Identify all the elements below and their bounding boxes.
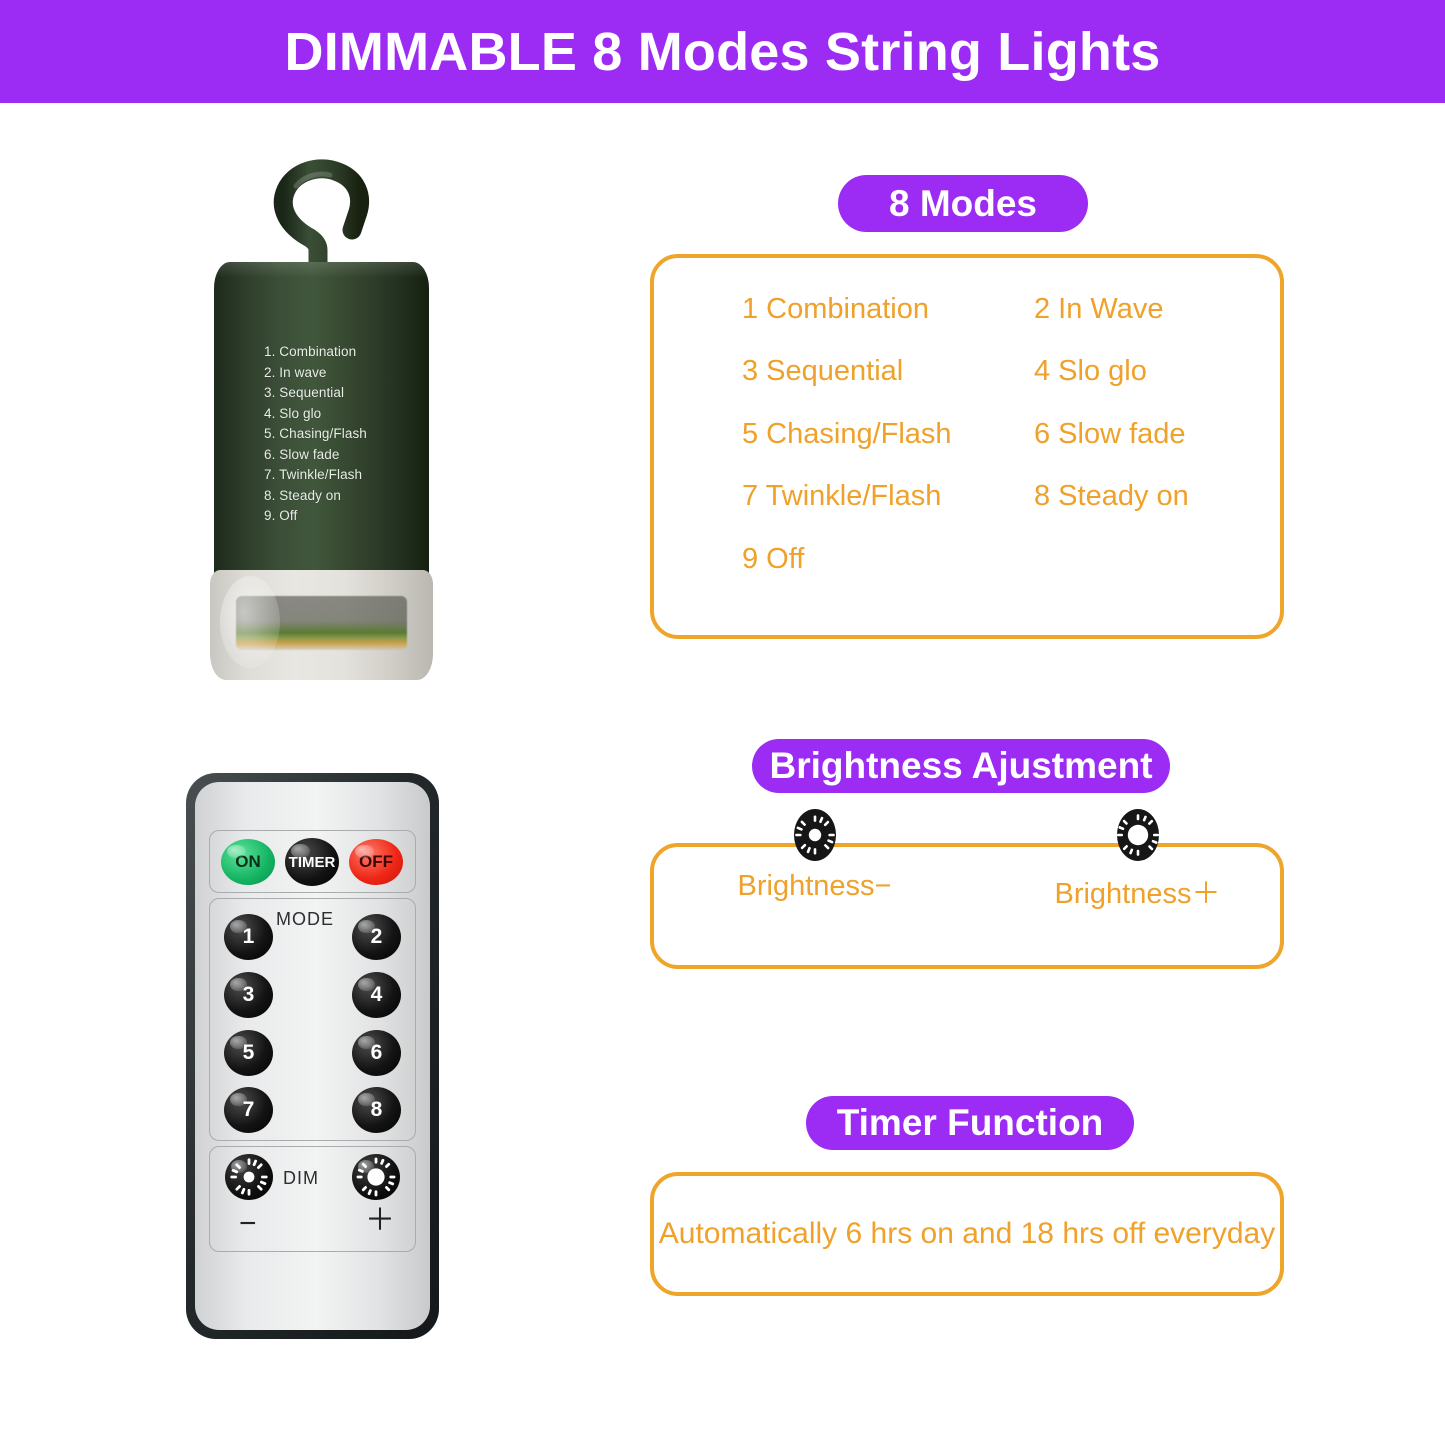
- remote-timer-button[interactable]: TIMER: [285, 838, 339, 886]
- remote-mode-button-label: 2: [371, 925, 383, 949]
- mode-item-6: 6 Slow fade: [1034, 419, 1262, 449]
- section-badge-timer-label: Timer Function: [837, 1102, 1104, 1144]
- modes-list: 1 Combination 2 In Wave 3 Sequential 4 S…: [742, 294, 1262, 574]
- mode-item-4: 4 Slo glo: [1034, 356, 1262, 386]
- remote-mode-button-3[interactable]: 3: [224, 972, 273, 1018]
- remote-mode-button-label: 5: [243, 1041, 255, 1065]
- modes-panel: 1 Combination 2 In Wave 3 Sequential 4 S…: [650, 254, 1284, 639]
- lantern-translucent-base: [210, 570, 433, 680]
- remote-dim-up-button[interactable]: [352, 1154, 400, 1200]
- remote-mode-button-8[interactable]: 8: [352, 1087, 401, 1133]
- section-badge-modes: 8 Modes: [838, 175, 1088, 232]
- sun-dim-icon: [228, 1156, 270, 1198]
- lantern-label-line: 9. Off: [264, 506, 367, 527]
- remote-mode-button-label: 3: [243, 983, 255, 1007]
- remote-mode-button-label: 6: [371, 1041, 383, 1065]
- lantern-label-line: 1. Combination: [264, 342, 367, 363]
- remote-timer-label: TIMER: [289, 854, 336, 871]
- brightness-panel: Brightness−: [650, 843, 1284, 969]
- lantern-product-image: 1. Combination 2. In wave 3. Sequential …: [186, 150, 486, 690]
- remote-dim-plus-sign: ＋: [365, 1206, 395, 1236]
- remote-mode-button-label: 4: [371, 983, 383, 1007]
- remote-on-label: ON: [235, 852, 261, 872]
- remote-off-button[interactable]: OFF: [349, 839, 403, 885]
- mode-item-8: 8 Steady on: [1034, 481, 1262, 511]
- timer-panel: Automatically 6 hrs on and 18 hrs off ev…: [650, 1172, 1284, 1296]
- remote-on-button[interactable]: ON: [221, 839, 275, 885]
- brightness-controls: Brightness−: [654, 804, 1280, 964]
- remote-mode-button-label: 8: [371, 1098, 383, 1122]
- section-badge-brightness: Brightness Ajustment: [752, 739, 1170, 793]
- remote-off-label: OFF: [359, 852, 393, 872]
- lantern-body: 1. Combination 2. In wave 3. Sequential …: [214, 262, 429, 578]
- remote-product-image: ON TIMER OFF MODE 1 2 3 4: [186, 773, 439, 1339]
- brightness-down-control: Brightness−: [654, 804, 957, 964]
- remote-faceplate: ON TIMER OFF MODE 1 2 3 4: [195, 782, 430, 1330]
- remote-dim-label: DIM: [283, 1168, 319, 1189]
- mode-item-9: 9 Off: [742, 544, 1034, 574]
- lantern-label-line: 2. In wave: [264, 363, 367, 384]
- sun-dim-icon: [789, 804, 841, 866]
- sun-bright-icon: [1112, 804, 1164, 866]
- mode-item-2: 2 In Wave: [1034, 294, 1262, 324]
- remote-mode-button-7[interactable]: 7: [224, 1087, 273, 1133]
- brightness-down-label: Brightness−: [738, 870, 892, 903]
- section-badge-modes-label: 8 Modes: [889, 183, 1037, 225]
- lantern-label-line: 3. Sequential: [264, 383, 367, 404]
- infographic-page: DIMMABLE 8 Modes String Lights 1.: [0, 0, 1445, 1445]
- sun-bright-icon: [355, 1156, 397, 1198]
- brightness-up-label: Brightness＋: [1054, 870, 1220, 912]
- remote-mode-button-label: 1: [243, 925, 255, 949]
- remote-mode-button-5[interactable]: 5: [224, 1030, 273, 1076]
- remote-dim-down-button[interactable]: [225, 1154, 273, 1200]
- remote-mode-button-4[interactable]: 4: [352, 972, 401, 1018]
- mode-item-3: 3 Sequential: [742, 356, 1034, 386]
- section-badge-brightness-label: Brightness Ajustment: [769, 745, 1152, 787]
- remote-mode-label: MODE: [276, 909, 334, 930]
- timer-description: Automatically 6 hrs on and 18 hrs off ev…: [654, 1176, 1280, 1292]
- remote-mode-button-6[interactable]: 6: [352, 1030, 401, 1076]
- remote-mode-button-1[interactable]: 1: [224, 914, 273, 960]
- mode-item-7: 7 Twinkle/Flash: [742, 481, 1034, 511]
- lantern-printed-mode-label: 1. Combination 2. In wave 3. Sequential …: [264, 342, 367, 527]
- section-badge-timer: Timer Function: [806, 1096, 1134, 1150]
- lantern-base-highlight: [220, 576, 280, 668]
- remote-dim-minus-sign: −: [239, 1209, 257, 1239]
- brightness-up-control: Brightness＋: [957, 804, 1280, 964]
- lantern-label-line: 7. Twinkle/Flash: [264, 465, 367, 486]
- remote-mode-button-2[interactable]: 2: [352, 914, 401, 960]
- lantern-hook-icon: [248, 150, 388, 280]
- remote-mode-button-label: 7: [243, 1098, 255, 1122]
- mode-item-1: 1 Combination: [742, 294, 1034, 324]
- header-banner: DIMMABLE 8 Modes String Lights: [0, 0, 1445, 103]
- lantern-label-line: 5. Chasing/Flash: [264, 424, 367, 445]
- page-title: DIMMABLE 8 Modes String Lights: [285, 21, 1161, 83]
- mode-item-5: 5 Chasing/Flash: [742, 419, 1034, 449]
- lantern-label-line: 6. Slow fade: [264, 445, 367, 466]
- lantern-label-line: 4. Slo glo: [264, 404, 367, 425]
- lantern-label-line: 8. Steady on: [264, 486, 367, 507]
